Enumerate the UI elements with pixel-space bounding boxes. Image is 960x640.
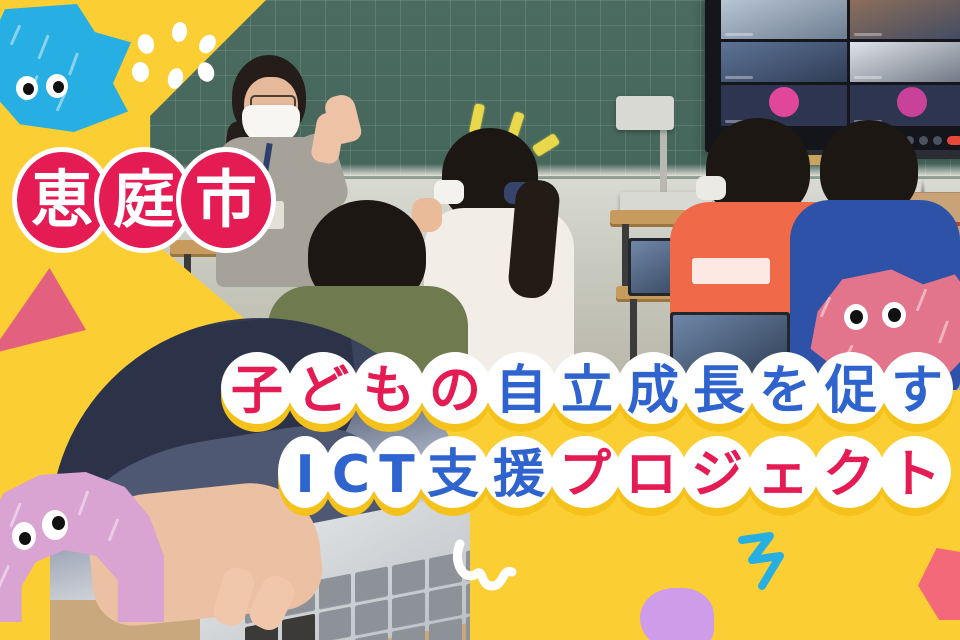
pupil-icon [19, 532, 31, 545]
title-char: 援 [486, 436, 552, 514]
title-char: プ [552, 436, 618, 514]
white-squiggle [450, 538, 530, 598]
city-badge-char-text: 恵 [31, 169, 93, 231]
title-char-text: ト [889, 449, 941, 501]
title-char: 自 [488, 352, 554, 430]
title-line-1: 子どもの自立成長を促す [224, 352, 950, 430]
title-char: T [374, 436, 420, 514]
title-char: ト [882, 436, 948, 514]
title-char: ジ [684, 436, 750, 514]
title-char-text: ク [823, 449, 875, 501]
title-char: 長 [686, 352, 752, 430]
pupil-icon [888, 308, 901, 322]
title-char: I [282, 436, 328, 514]
title-char-text: 自 [495, 365, 547, 417]
blue-blob-character [0, 4, 134, 132]
title-char-text: 子 [231, 365, 283, 417]
title-char-text: I [295, 449, 314, 501]
city-badge-char: 市 [180, 151, 272, 249]
title-char-text: 促 [825, 365, 877, 417]
document-camera-head [616, 96, 674, 130]
vc-tile [721, 42, 847, 83]
title-char: C [328, 436, 374, 514]
title-char: ク [816, 436, 882, 514]
title-char: 成 [620, 352, 686, 430]
title-char-text: 長 [693, 365, 745, 417]
banner-root: 恵 庭 市 子どもの自立成長を促す ICT支援プロジェクト [0, 0, 960, 640]
title-char: ど [290, 352, 356, 430]
title-char: の [422, 352, 488, 430]
vc-tile [850, 0, 960, 39]
title-char-text: す [891, 365, 943, 417]
title-char: も [356, 352, 422, 430]
title-char-text: ど [297, 365, 349, 417]
city-badge-char-text: 庭 [113, 169, 175, 231]
white-seed-dots [128, 18, 224, 100]
title-line-2: ICT支援プロジェクト [282, 436, 948, 514]
title-char: ェ [750, 436, 816, 514]
pink-pentagon [918, 548, 960, 620]
title-char-text: も [363, 365, 415, 417]
purple-blob [640, 588, 714, 640]
title-char-text: 支 [427, 449, 479, 501]
title-char: 支 [420, 436, 486, 514]
title-char-text: T [379, 449, 414, 501]
title-char: を [752, 352, 818, 430]
title-char-text: 立 [561, 365, 613, 417]
title-char-text: ェ [757, 449, 809, 501]
title-char-text: ジ [691, 449, 743, 501]
title-char-text: の [429, 365, 481, 417]
title-char: 立 [554, 352, 620, 430]
title-char-text: 援 [493, 449, 545, 501]
title-char: 促 [818, 352, 884, 430]
title-char-text: プ [559, 449, 611, 501]
title-char-text: ロ [625, 449, 677, 501]
title-char: 子 [224, 352, 290, 430]
title-char-text: を [759, 365, 811, 417]
title-char-text: 成 [627, 365, 679, 417]
pupil-icon [23, 83, 34, 95]
title-char-text: C [332, 449, 370, 501]
city-badge: 恵 庭 市 [16, 148, 262, 252]
vc-tile [721, 0, 847, 39]
pink-triangle [0, 268, 86, 354]
video-conference-grid [721, 0, 960, 126]
vc-tile [850, 42, 960, 83]
title-char: ロ [618, 436, 684, 514]
page-title: 子どもの自立成長を促す ICT支援プロジェクト [238, 352, 950, 514]
pupil-icon [53, 81, 64, 93]
pupil-icon [850, 310, 863, 324]
blue-zigzag [736, 530, 812, 594]
title-char: す [884, 352, 950, 430]
pupil-icon [52, 516, 65, 530]
city-badge-char-text: 市 [195, 169, 257, 231]
